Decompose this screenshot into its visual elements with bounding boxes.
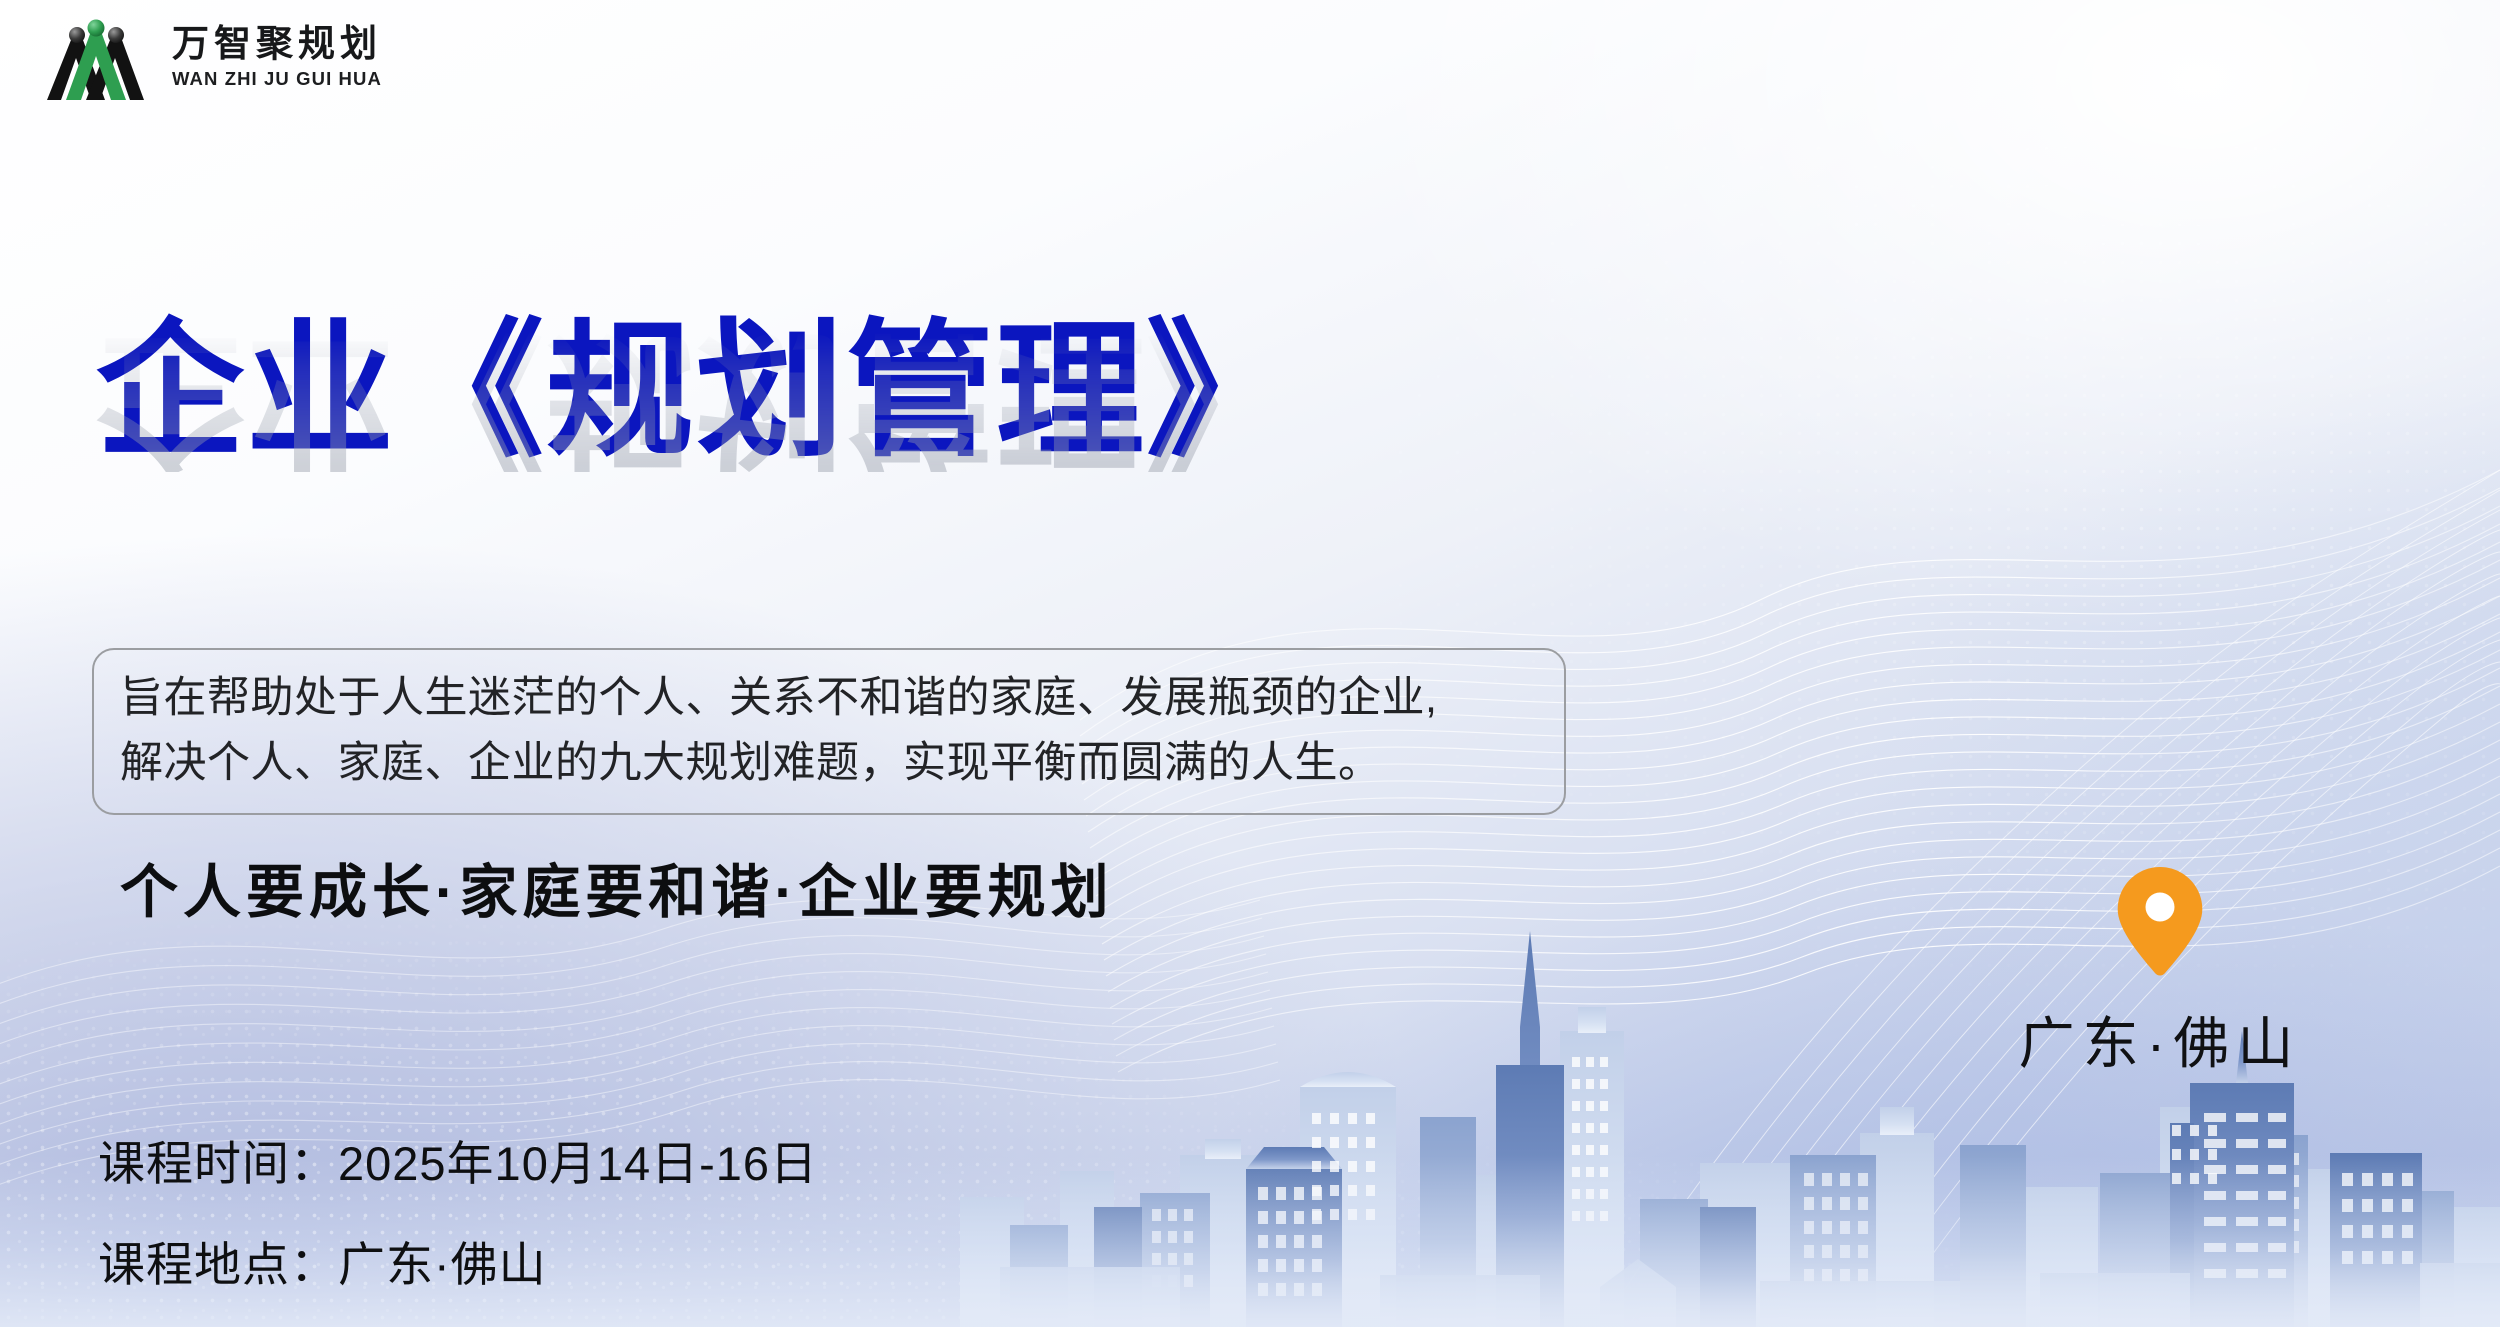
location-label: 广东·佛山: [1940, 999, 2380, 1080]
course-info: 课程时间：2025年10月14日-16日 课程地点：广东·佛山: [98, 1125, 818, 1295]
three-people-logo-icon: [36, 16, 154, 100]
headline-block: 企业《规划管理》 企业《规划管理》: [96, 318, 1296, 620]
brand-name-cn: 万智聚规划: [172, 26, 382, 65]
brand-wordmark: 万智聚规划 WAN ZHI JU GUI HUA: [172, 26, 382, 91]
tagline: 个人要成长·家庭要和谐·企业要规划: [120, 845, 1114, 929]
course-venue: 课程地点：广东·佛山: [98, 1226, 818, 1295]
description-line-2: 解决个人、家庭、企业的九大规划难题，实现平衡而圆满的人生。: [120, 731, 1538, 796]
location-block: 广东·佛山: [1940, 865, 2380, 1080]
page-title: 企业《规划管理》: [96, 318, 1296, 466]
description-line-1: 旨在帮助处于人生迷茫的个人、关系不和谐的家庭、发展瓶颈的企业,: [120, 666, 1538, 731]
description-box: 旨在帮助处于人生迷茫的个人、关系不和谐的家庭、发展瓶颈的企业, 解决个人、家庭、…: [92, 648, 1566, 815]
brand-name-en: WAN ZHI JU GUI HUA: [172, 68, 382, 90]
promo-poster: 万智聚规划 WAN ZHI JU GUI HUA 企业《规划管理》 企业《规划管…: [0, 0, 2500, 1327]
brand-logo[interactable]: 万智聚规划 WAN ZHI JU GUI HUA: [36, 16, 382, 100]
course-date: 课程时间：2025年10月14日-16日: [98, 1125, 818, 1194]
map-pin-icon: [2114, 865, 2206, 977]
